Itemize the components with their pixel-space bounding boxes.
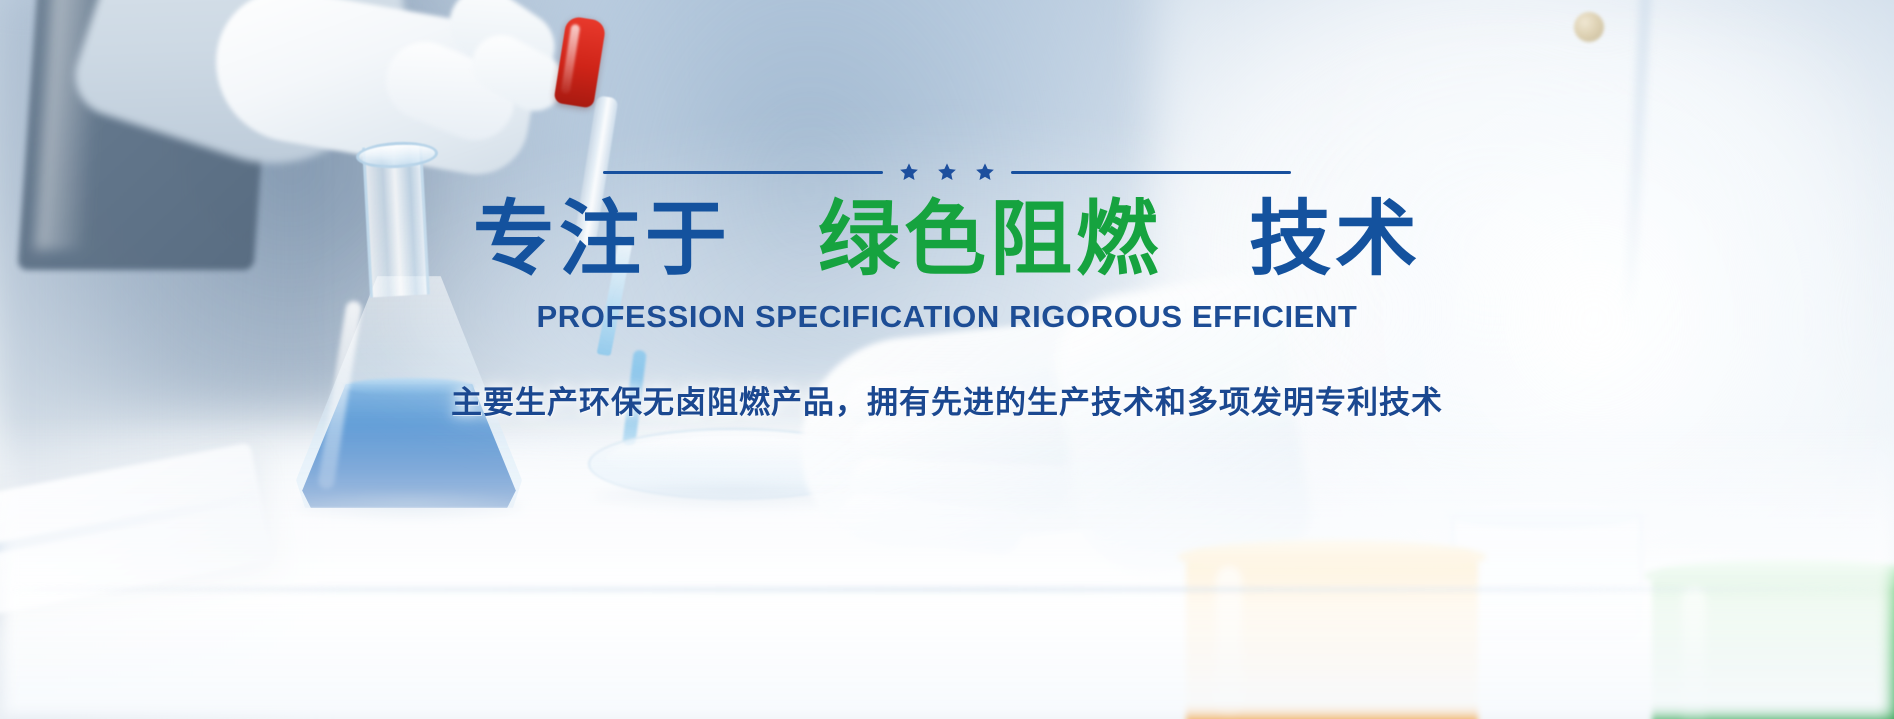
- lab-coat-button: [1574, 12, 1604, 42]
- page-title: 专注于 绿色阻燃 技术: [0, 196, 1894, 285]
- headline-part-3: 技术: [1249, 192, 1421, 287]
- star-icon: [899, 162, 919, 182]
- divider-rule-right: [1011, 171, 1291, 174]
- english-subtitle: PROFESSION SPECIFICATION RIGOROUS EFFICI…: [0, 299, 1894, 335]
- star-icon: [937, 162, 957, 182]
- headline-part-2: 绿色阻燃: [818, 192, 1162, 287]
- star-group: [899, 162, 995, 182]
- lab-bench-edge: [0, 588, 1894, 591]
- headline-part-1: 专注于: [473, 192, 731, 287]
- decorative-divider: [0, 160, 1894, 184]
- banner-content: 专注于 绿色阻燃 技术 PROFESSION SPECIFICATION RIG…: [0, 160, 1894, 422]
- star-icon: [975, 162, 995, 182]
- chinese-tagline: 主要生产环保无卤阻燃产品，拥有先进的生产技术和多项发明专利技术: [0, 377, 1894, 422]
- hero-banner: 专注于 绿色阻燃 技术 PROFESSION SPECIFICATION RIG…: [0, 0, 1894, 719]
- divider-rule-left: [603, 171, 883, 174]
